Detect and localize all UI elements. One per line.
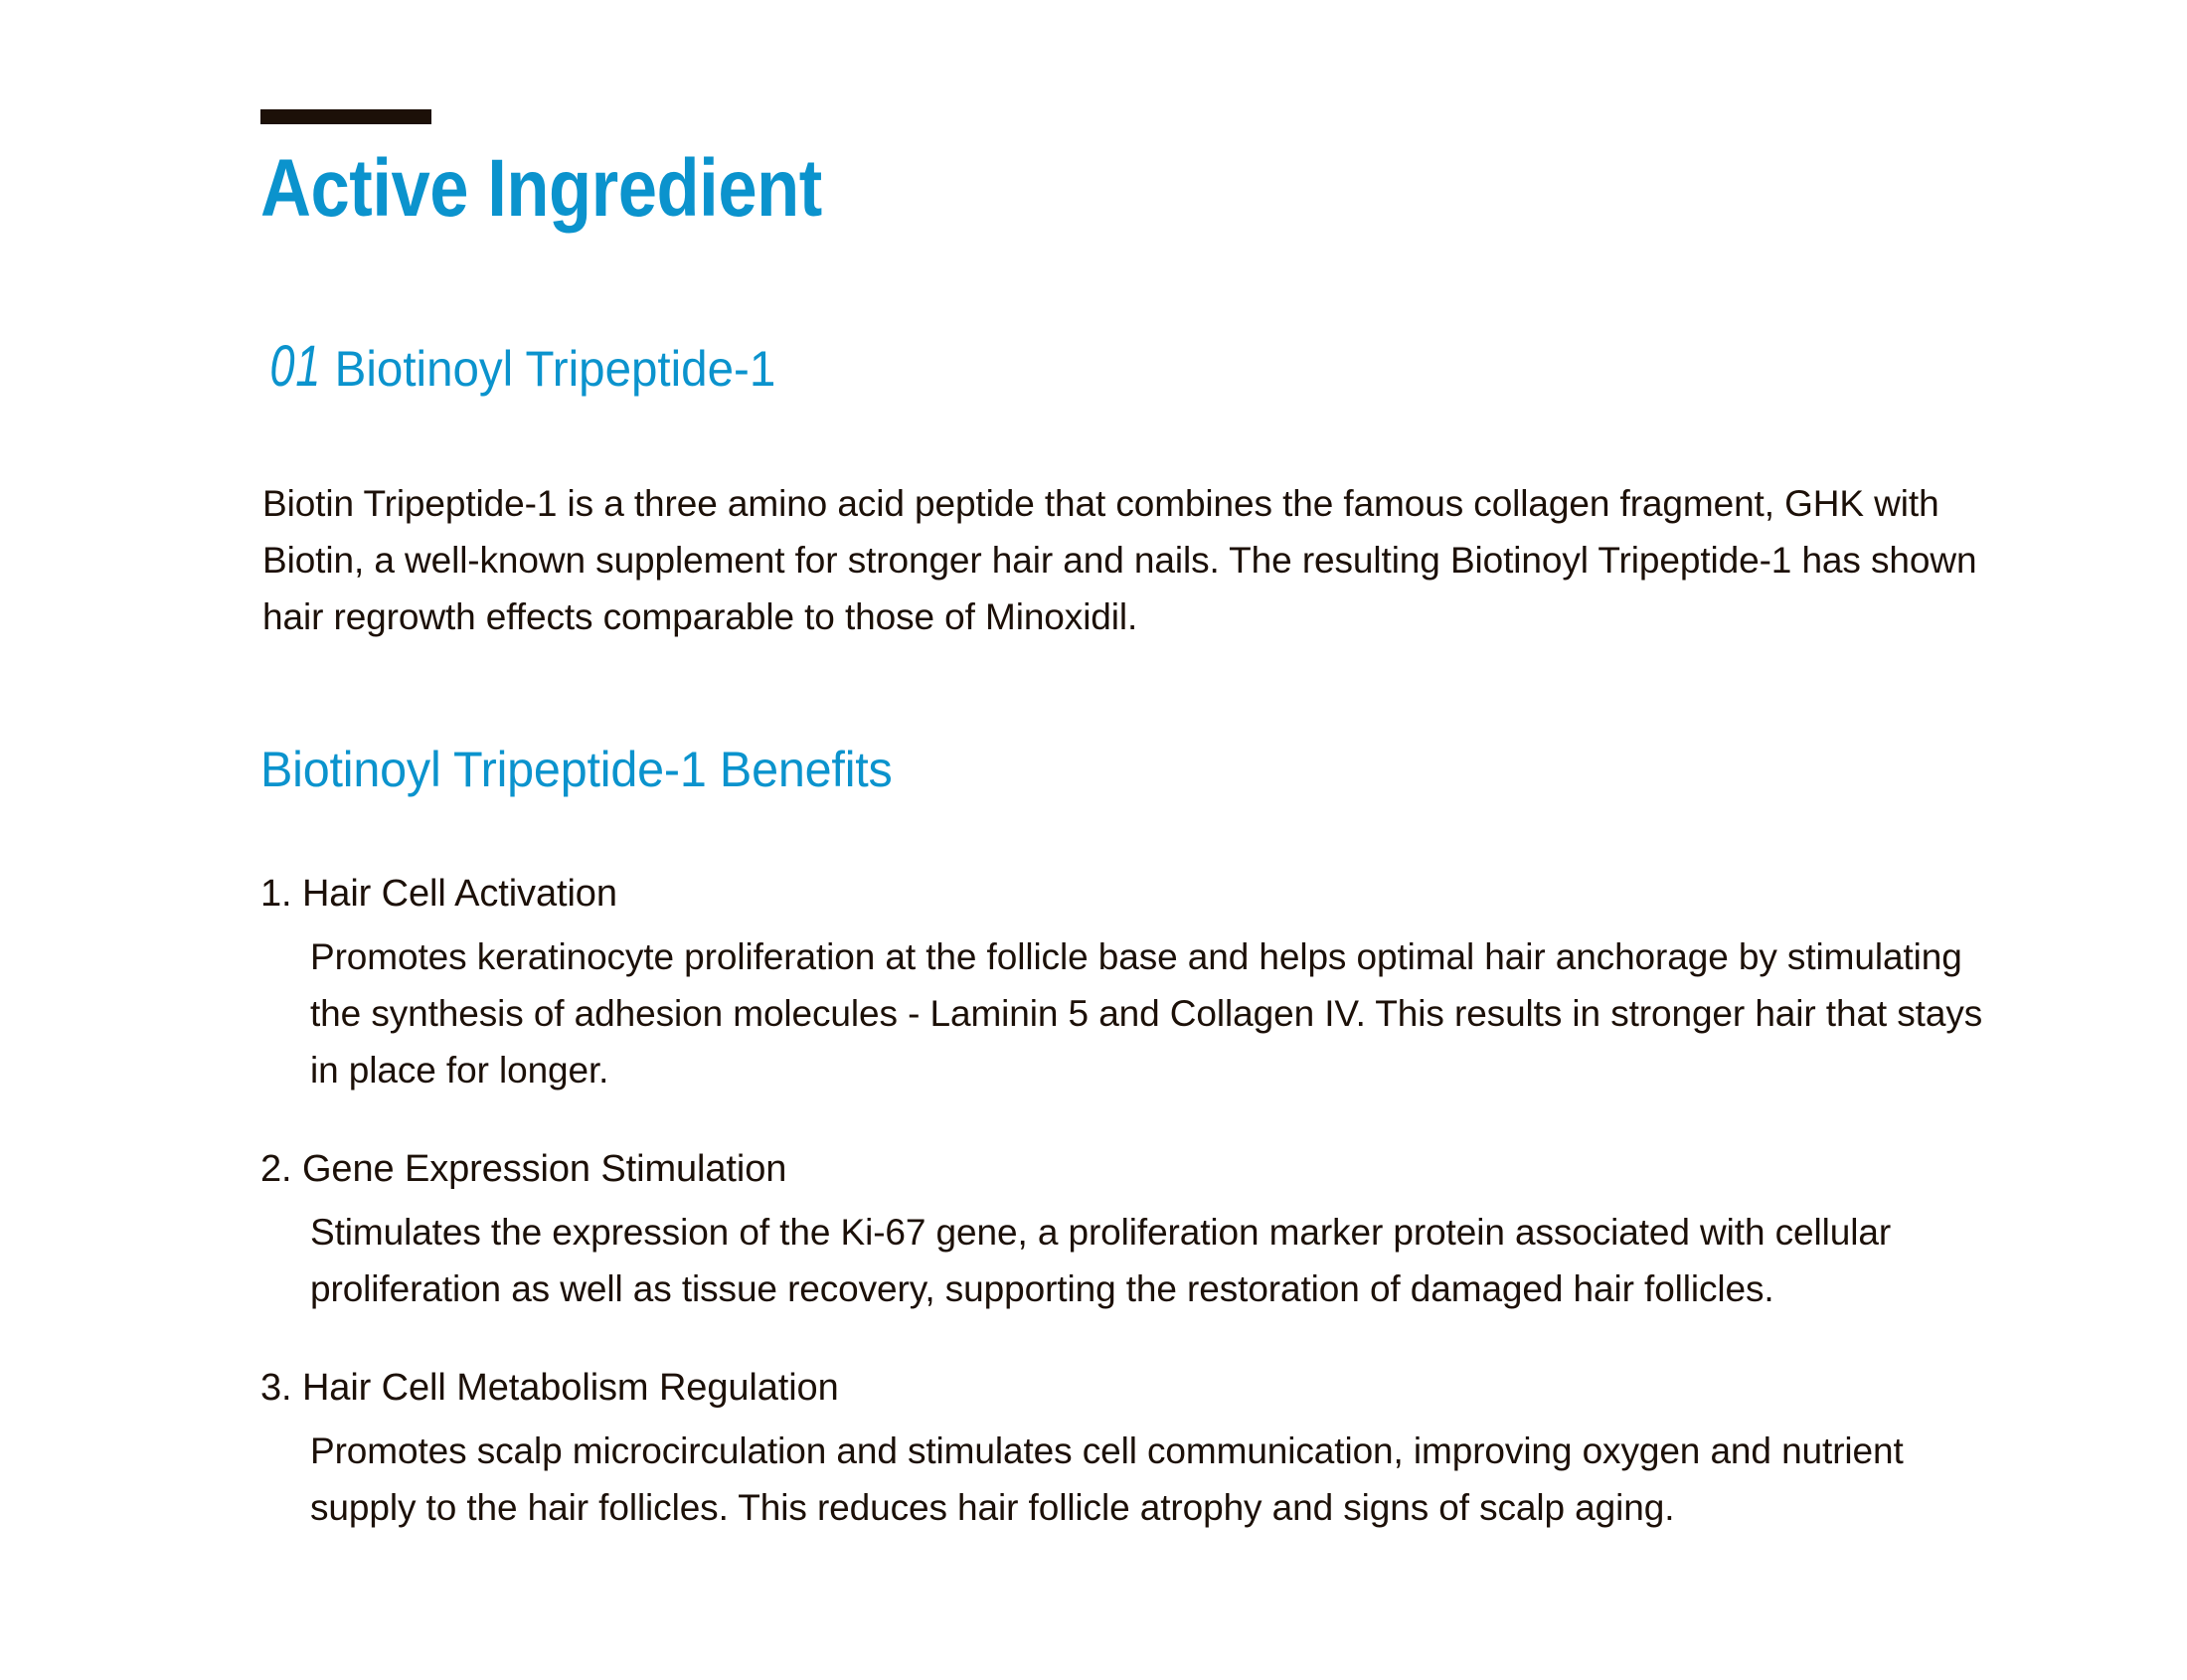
ingredient-name: Biotinoyl Tripeptide-1 — [334, 340, 775, 398]
benefit-body: Promotes scalp microcirculation and stim… — [310, 1423, 2000, 1536]
ingredient-description: Biotin Tripeptide-1 is a three amino aci… — [262, 475, 1992, 645]
list-item: 3. Hair Cell Metabolism Regulation Promo… — [260, 1364, 2010, 1536]
divider-rule-icon — [260, 109, 431, 124]
slide-page: Active Ingredient 01 Biotinoyl Tripeptid… — [0, 0, 2187, 1680]
benefit-body: Stimulates the expression of the Ki-67 g… — [310, 1204, 2000, 1317]
page-header: Active Ingredient — [260, 109, 914, 230]
benefits-list: 1. Hair Cell Activation Promotes keratin… — [260, 870, 2010, 1536]
benefit-title: 1. Hair Cell Activation — [260, 870, 2010, 918]
benefit-title: 2. Gene Expression Stimulation — [260, 1145, 2010, 1193]
ingredient-number: 01 — [269, 333, 321, 400]
page-title: Active Ingredient — [260, 148, 822, 230]
benefits-section-title: Biotinoyl Tripeptide-1 Benefits — [260, 741, 893, 798]
benefit-body: Promotes keratinocyte proliferation at t… — [310, 928, 2000, 1098]
benefit-title: 3. Hair Cell Metabolism Regulation — [260, 1364, 2010, 1412]
list-item: 1. Hair Cell Activation Promotes keratin… — [260, 870, 2010, 1098]
ingredient-heading: 01 Biotinoyl Tripeptide-1 — [262, 333, 786, 400]
list-item: 2. Gene Expression Stimulation Stimulate… — [260, 1145, 2010, 1317]
